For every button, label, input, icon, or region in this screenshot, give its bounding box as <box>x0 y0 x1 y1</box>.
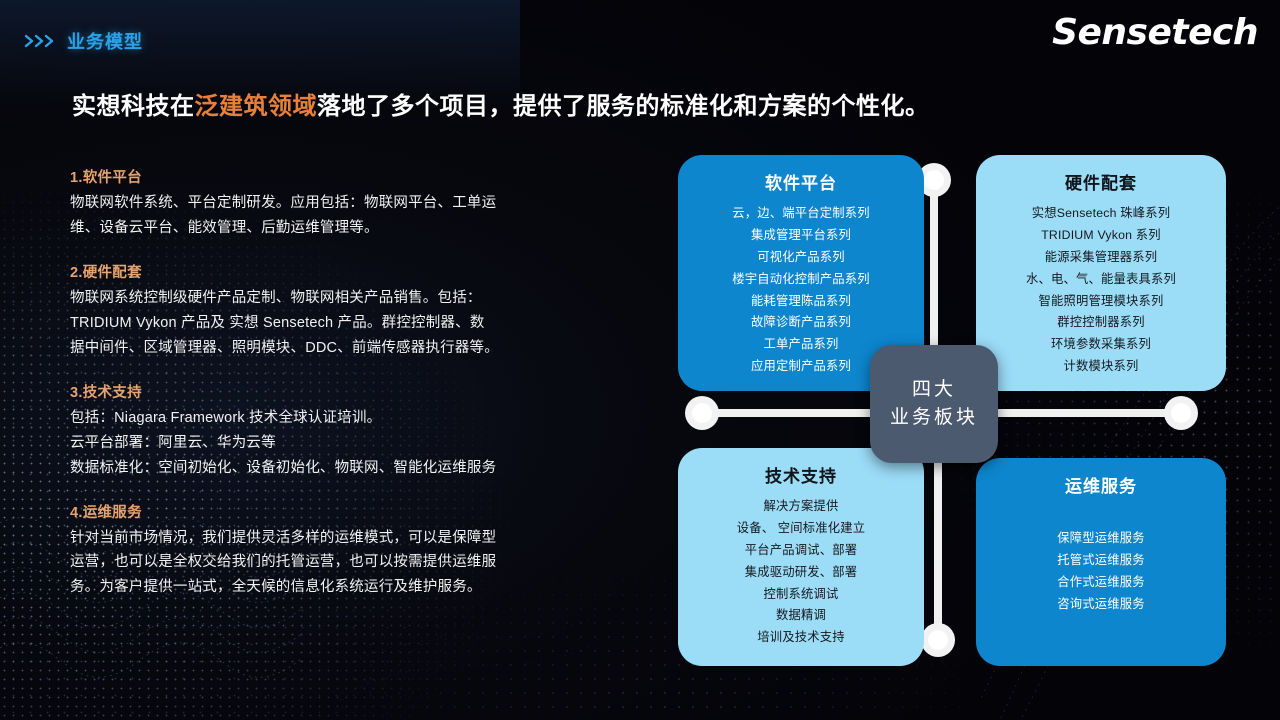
card-list-item: 控制系统调试 <box>678 584 924 606</box>
breadcrumb: 业务模型 <box>24 28 143 54</box>
card-item-list: 实想Sensetech 珠峰系列 TRIDIUM Vykon 系列 能源采集管理… <box>976 203 1226 378</box>
card-list-item: 水、电、气、能量表具系列 <box>976 269 1226 291</box>
text-line: 物联网软件系统、平台定制研发。应用包括：物联网平台、工单运 <box>70 191 590 216</box>
card-list-item: 集成管理平台系列 <box>678 225 924 247</box>
text-block-title: 2.硬件配套 <box>70 261 590 282</box>
card-list-item: 能源采集管理器系列 <box>976 247 1226 269</box>
hub-label-line1: 四大 <box>912 376 956 404</box>
text-line: 针对当前市场情况，我们提供灵活多样的运维模式，可以是保障型 <box>70 526 590 551</box>
text-block-hardware: 2.硬件配套 物联网系统控制级硬件产品定制、物联网相关产品销售。包括： TRID… <box>70 261 590 361</box>
diagram-center-hub: 四大 业务板块 <box>870 345 998 463</box>
card-list-item: 能耗管理陈品系列 <box>678 291 924 313</box>
card-operations-service[interactable]: 运维服务 保障型运维服务 托管式运维服务 合作式运维服务 咨询式运维服务 <box>976 458 1226 666</box>
card-list-item: 实想Sensetech 珠峰系列 <box>976 203 1226 225</box>
text-block-title: 4.运维服务 <box>70 501 590 522</box>
card-list-item: 数据精调 <box>678 605 924 627</box>
text-line: 维、设备云平台、能效管理、后勤运维管理等。 <box>70 216 590 241</box>
hub-label-line2: 业务板块 <box>890 404 978 432</box>
card-list-item: 咨询式运维服务 <box>976 594 1226 616</box>
text-line: 包括：Niagara Framework 技术全球认证培训。 <box>70 406 590 431</box>
text-block-body: 包括：Niagara Framework 技术全球认证培训。 云平台部署：阿里云… <box>70 406 590 481</box>
card-list-item: 智能照明管理模块系列 <box>976 291 1226 313</box>
card-item-list: 解决方案提供 设备、 空间标准化建立 平台产品调试、部署 集成驱动研发、部署 控… <box>678 496 924 649</box>
card-hardware-suite[interactable]: 硬件配套 实想Sensetech 珠峰系列 TRIDIUM Vykon 系列 能… <box>976 155 1226 391</box>
card-item-list: 保障型运维服务 托管式运维服务 合作式运维服务 咨询式运维服务 <box>976 528 1226 616</box>
card-list-item: 培训及技术支持 <box>678 627 924 649</box>
page-title-part2: 落地了多个项目，提供了服务的标准化和方案的个性化。 <box>317 93 930 120</box>
card-list-item: 楼宇自动化控制产品系列 <box>678 269 924 291</box>
card-title: 运维服务 <box>1065 472 1137 497</box>
chevron-triple-right-icon <box>24 33 58 49</box>
text-line: 数据标准化：空间初始化、设备初始化、物联网、智能化运维服务 <box>70 456 590 481</box>
card-title: 软件平台 <box>765 169 837 194</box>
card-list-item: 计数模块系列 <box>976 356 1226 378</box>
text-block-title: 1.软件平台 <box>70 166 590 187</box>
page-title: 实想科技在泛建筑领域落地了多个项目，提供了服务的标准化和方案的个性化。 <box>72 86 930 121</box>
brand-logo: Sensetech <box>1052 12 1258 53</box>
card-list-item: 保障型运维服务 <box>976 528 1226 550</box>
text-block-body: 物联网软件系统、平台定制研发。应用包括：物联网平台、工单运 维、设备云平台、能效… <box>70 191 590 241</box>
card-list-item: 集成驱动研发、部署 <box>678 562 924 584</box>
breadcrumb-label: 业务模型 <box>67 28 143 54</box>
card-list-item: 设备、 空间标准化建立 <box>678 518 924 540</box>
text-block-software: 1.软件平台 物联网软件系统、平台定制研发。应用包括：物联网平台、工单运 维、设… <box>70 166 590 241</box>
text-block-title: 3.技术支持 <box>70 381 590 402</box>
card-list-item: 环境参数采集系列 <box>976 334 1226 356</box>
card-list-item: 解决方案提供 <box>678 496 924 518</box>
page-title-part1: 实想科技在 <box>72 93 195 120</box>
text-line: TRIDIUM Vykon 产品及 实想 Sensetech 产品。群控控制器、… <box>70 311 590 336</box>
text-block-ops: 4.运维服务 针对当前市场情况，我们提供灵活多样的运维模式，可以是保障型 运营，… <box>70 501 590 601</box>
card-list-item: 可视化产品系列 <box>678 247 924 269</box>
card-list-item: 合作式运维服务 <box>976 572 1226 594</box>
card-list-item: 群控控制器系列 <box>976 312 1226 334</box>
card-title: 技术支持 <box>765 462 837 487</box>
card-list-item: 托管式运维服务 <box>976 550 1226 572</box>
text-line: 云平台部署：阿里云、华为云等 <box>70 431 590 456</box>
card-list-item: 故障诊断产品系列 <box>678 312 924 334</box>
text-block-body: 针对当前市场情况，我们提供灵活多样的运维模式，可以是保障型 运营，也可以是全权交… <box>70 526 590 601</box>
page-title-highlight: 泛建筑领域 <box>195 93 318 120</box>
text-line: 据中间件、区域管理器、照明模块、DDC、前端传感器执行器等。 <box>70 336 590 361</box>
text-block-support: 3.技术支持 包括：Niagara Framework 技术全球认证培训。 云平… <box>70 381 590 481</box>
left-text-column: 1.软件平台 物联网软件系统、平台定制研发。应用包括：物联网平台、工单运 维、设… <box>70 166 590 620</box>
card-technical-support[interactable]: 技术支持 解决方案提供 设备、 空间标准化建立 平台产品调试、部署 集成驱动研发… <box>678 448 924 666</box>
card-title: 硬件配套 <box>1065 169 1137 194</box>
card-list-item: TRIDIUM Vykon 系列 <box>976 225 1226 247</box>
text-line: 运营，也可以是全权交给我们的托管运营，也可以按需提供运维服 <box>70 550 590 575</box>
text-block-body: 物联网系统控制级硬件产品定制、物联网相关产品销售。包括： TRIDIUM Vyk… <box>70 286 590 361</box>
text-line: 物联网系统控制级硬件产品定制、物联网相关产品销售。包括： <box>70 286 590 311</box>
four-pillars-diagram: 软件平台 云，边、端平台定制系列 集成管理平台系列 可视化产品系列 楼宇自动化控… <box>660 140 1280 700</box>
card-list-item: 平台产品调试、部署 <box>678 540 924 562</box>
text-line: 务。为客户提供一站式，全天候的信息化系统运行及维护服务。 <box>70 575 590 600</box>
card-list-item: 云，边、端平台定制系列 <box>678 203 924 225</box>
